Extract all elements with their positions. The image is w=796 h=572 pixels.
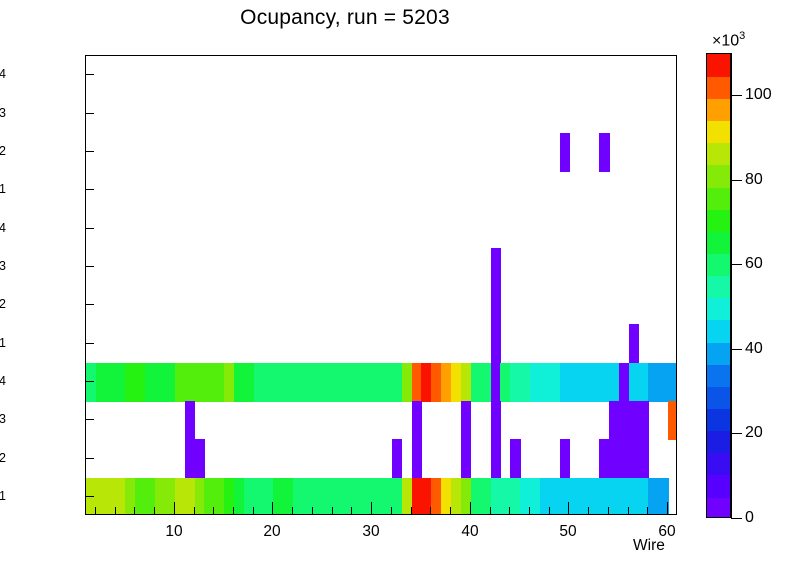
x-axis-major-tick [568,502,569,515]
x-axis-major-tick [272,502,273,515]
colorbar-band [707,430,730,453]
colorbar-band [707,98,730,121]
x-axis-minor-tick [391,507,392,515]
colorbar-tick [731,95,742,96]
colorbar-tick [731,518,742,519]
heatmap-cell [629,324,640,363]
x-axis-minor-tick [628,507,629,515]
heatmap-cell [560,133,571,172]
x-axis-major-tick [470,502,471,515]
heatmap-cell [639,439,650,478]
colorbar-band [707,76,730,99]
heatmap-cell [491,324,502,363]
colorbar-tick [731,180,742,181]
colorbar-tick-label: 20 [745,424,763,442]
x-axis-minor-tick [509,507,510,515]
y-axis-tick [85,458,94,459]
y-axis-tick-label: SL2L3 [0,259,6,273]
colorbar-multiplier: ×103 [712,30,745,50]
colorbar-multiplier-exponent: 3 [739,30,745,42]
heatmap-cell [491,286,502,325]
heatmap-cell [491,439,502,478]
y-axis-tick-label: SL2L1 [0,336,6,350]
heatmap-cells [86,56,676,514]
y-axis-tick [85,74,94,75]
colorbar-band [707,120,730,143]
x-axis-minor-tick [233,507,234,515]
y-axis-tick-label: SL3L4 [0,67,6,81]
y-axis-tick [85,151,94,152]
x-axis-minor-tick [154,507,155,515]
x-axis-tick-label: 10 [165,523,182,541]
x-axis-minor-tick [213,507,214,515]
heatmap-cell [491,248,502,287]
x-axis-minor-tick [312,507,313,515]
colorbar-tick-label: 0 [745,509,754,527]
colorbar-band [707,253,730,276]
y-axis-tick-label: SL1L1 [0,489,6,503]
x-axis-tick-label: 20 [263,523,280,541]
colorbar-band [707,320,730,343]
x-axis-minor-tick [194,507,195,515]
heatmap-cell [185,401,196,440]
x-axis-tick-label: 40 [461,523,478,541]
colorbar-band [707,209,730,232]
heatmap-cell [412,401,423,440]
colorbar-tick [731,349,742,350]
x-axis-minor-tick [450,507,451,515]
x-axis-minor-tick [490,507,491,515]
heatmap-cell [491,401,502,440]
heatmap-cell [510,439,521,478]
heatmap-cell [392,439,403,478]
colorbar-band [707,497,730,518]
x-axis-minor-tick [95,507,96,515]
x-axis-tick-label: 30 [362,523,379,541]
x-axis-minor-tick [608,507,609,515]
heatmap-cell [599,133,610,172]
y-axis-tick [85,266,94,267]
heatmap-cell [668,363,676,402]
colorbar-band [707,364,730,387]
x-axis-minor-tick [549,507,550,515]
x-axis-minor-tick [430,507,431,515]
colorbar-band [707,386,730,409]
y-axis-tick-label: SL3L1 [0,182,6,196]
x-axis-minor-tick [351,507,352,515]
colorbar-band [707,475,730,498]
heatmap-cell [412,439,423,478]
colorbar-band [707,231,730,254]
heatmap-cell [195,439,206,478]
colorbar-tick-label: 100 [745,86,772,104]
y-axis-tick [85,189,94,190]
colorbar-band [707,275,730,298]
plot-frame [85,55,677,515]
y-axis-tick [85,343,94,344]
heatmap-cell [560,439,571,478]
x-axis-minor-tick [647,507,648,515]
colorbar-band [707,453,730,476]
x-axis-tick-label: 50 [559,523,576,541]
y-axis-tick [85,419,94,420]
y-axis-tick-label: SL3L2 [0,144,6,158]
y-axis-tick-label: SL2L2 [0,297,6,311]
colorbar-band [707,342,730,365]
heatmap-cell [461,401,472,440]
colorbar-band [707,143,730,166]
y-axis-tick-label: SL2L4 [0,221,6,235]
x-axis-minor-tick [134,507,135,515]
x-axis-minor-tick [588,507,589,515]
y-axis-tick-label: SL1L4 [0,374,6,388]
page-title: Ocupancy, run = 5203 [0,6,690,30]
colorbar-band [707,408,730,431]
heatmap-cell [668,401,676,440]
heatmap-cell [461,439,472,478]
x-axis-minor-tick [332,507,333,515]
colorbar [706,53,731,518]
colorbar-tick-label: 60 [745,255,763,273]
colorbar-tick-label: 40 [745,340,763,358]
colorbar-tick-label: 80 [745,171,763,189]
y-axis-tick [85,228,94,229]
colorbar-band [707,298,730,321]
colorbar-axis [731,53,732,518]
heatmap-cell [639,401,650,440]
colorbar-band [707,54,730,77]
y-axis-tick-label: SL1L2 [0,451,6,465]
x-axis-major-tick [371,502,372,515]
y-axis-tick-label: SL3L3 [0,106,6,120]
x-axis-minor-tick [411,507,412,515]
colorbar-tick [731,264,742,265]
x-axis-minor-tick [529,507,530,515]
x-axis-title: Wire [633,537,665,555]
colorbar-tick [731,433,742,434]
colorbar-multiplier-base: ×10 [712,32,739,49]
y-axis-tick [85,113,94,114]
x-axis-major-tick [667,502,668,515]
x-axis-minor-tick [115,507,116,515]
x-axis-minor-tick [292,507,293,515]
y-axis-tick [85,496,94,497]
colorbar-band [707,187,730,210]
colorbar-band [707,165,730,188]
x-axis-minor-tick [253,507,254,515]
y-axis-tick [85,381,94,382]
y-axis-tick-label: SL1L3 [0,412,6,426]
x-axis-major-tick [174,502,175,515]
y-axis-tick [85,304,94,305]
